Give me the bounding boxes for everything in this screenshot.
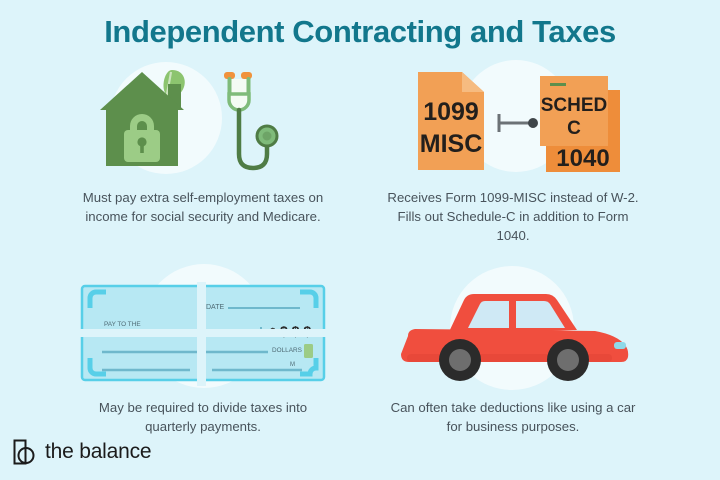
caption-forms: Receives Form 1099-MISC instead of W-2. … xyxy=(368,188,658,245)
form-1099-line2: MISC xyxy=(420,130,483,158)
tax-forms-icon: 1099 MISC 1040 SCHED xyxy=(400,66,626,178)
form-1099-card: 1099 MISC xyxy=(418,72,484,170)
check-date-label: DATE xyxy=(206,304,224,311)
form-sched-line1: SCHED xyxy=(541,95,608,116)
balance-b-logomark xyxy=(12,438,38,466)
page-title: Independent Contracting and Taxes xyxy=(0,14,720,50)
artwork-check: DATE PAY TO THE ORDER OF $ $ $ $ DOLLARS… xyxy=(58,272,348,390)
car-icon xyxy=(396,280,632,388)
caption-self-employment: Must pay extra self-employment taxes on … xyxy=(58,188,348,226)
check-dollars-label: DOLLARS xyxy=(272,347,302,354)
artwork-car xyxy=(368,272,658,390)
form-1099-line1: 1099 xyxy=(423,98,479,126)
brand-logo: the balance xyxy=(12,438,151,466)
check-payto-line1: PAY TO THE xyxy=(104,321,141,328)
brand-name: the balance xyxy=(45,440,151,464)
caption-quarterly: May be required to divide taxes into qua… xyxy=(58,398,348,436)
cell-self-employment: Must pay extra self-employment taxes on … xyxy=(58,62,348,226)
quarterly-check-icon: DATE PAY TO THE ORDER OF $ $ $ $ DOLLARS… xyxy=(80,282,326,386)
cell-quarterly: DATE PAY TO THE ORDER OF $ $ $ $ DOLLARS… xyxy=(58,272,348,436)
form-1040-label: 1040 xyxy=(556,145,609,172)
stethoscope-icon xyxy=(208,66,304,178)
caption-deductions: Can often take deductions like using a c… xyxy=(368,398,658,436)
artwork-self-employment xyxy=(58,62,348,180)
check-memo-label: M xyxy=(290,362,295,368)
form-sched-line2: C xyxy=(567,118,581,139)
artwork-forms: 1099 MISC 1040 SCHED xyxy=(368,62,658,180)
cell-forms: 1099 MISC 1040 SCHED xyxy=(368,62,658,245)
form-schedule-c-card: SCHED C xyxy=(540,76,608,146)
house-lock-icon xyxy=(96,64,214,176)
connector-arrow xyxy=(499,114,538,132)
cell-deductions: Can often take deductions like using a c… xyxy=(368,272,658,436)
infographic-canvas: Independent Contracting and Taxes xyxy=(0,0,720,480)
